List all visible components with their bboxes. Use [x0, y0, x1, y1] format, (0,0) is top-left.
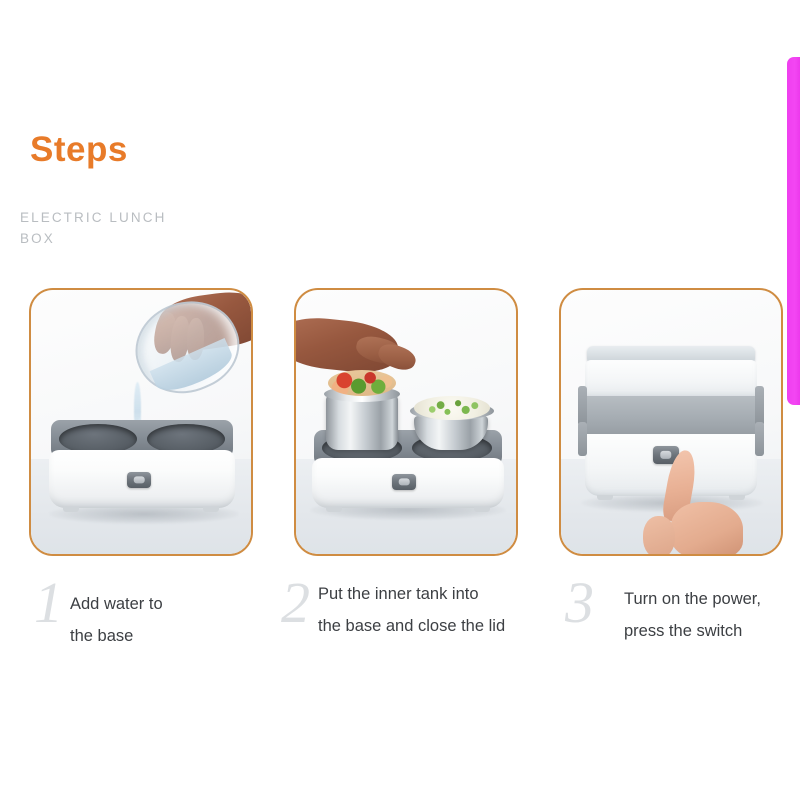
- base-foot: [597, 495, 613, 500]
- step-caption-line-1: Turn on the power,: [624, 583, 761, 615]
- step-photo-panel-2: [294, 288, 518, 556]
- page-subtitle: ELECTRIC LUNCH BOX: [20, 208, 195, 250]
- food-vegetables: [328, 370, 396, 396]
- step-number-2: 2: [281, 574, 310, 632]
- side-clip-left: [578, 386, 587, 426]
- hand: [671, 502, 743, 554]
- step-3-photo: [561, 290, 781, 554]
- step-caption-line-2: the base and close the lid: [318, 610, 505, 642]
- step-number-3: 3: [565, 574, 594, 632]
- step-2-photo: [296, 290, 516, 554]
- header-block: Steps: [30, 132, 128, 167]
- base-foot: [729, 495, 745, 500]
- lunch-box-upper-tier: [585, 360, 757, 398]
- power-switch: [392, 474, 416, 490]
- accent-strip: [787, 57, 800, 405]
- base-foot: [63, 507, 79, 512]
- thumb: [643, 516, 675, 554]
- step-caption-line-1: Add water to: [70, 588, 163, 620]
- base-foot: [326, 507, 342, 512]
- food-rice: [414, 396, 490, 420]
- step-1-photo: [31, 290, 251, 554]
- base-foot: [203, 507, 219, 512]
- inner-tank-vegetables: [326, 394, 398, 450]
- side-clip-right-lower: [755, 422, 764, 456]
- step-photo-panel-1: [29, 288, 253, 556]
- side-clip-left-lower: [578, 422, 587, 456]
- lunch-box-middle-band: [585, 396, 757, 436]
- step-caption-line-2: press the switch: [624, 615, 742, 647]
- power-switch: [127, 472, 151, 488]
- steps-infographic-page: Steps ELECTRIC LUNCH BOX: [0, 0, 800, 800]
- side-clip-right: [755, 386, 764, 426]
- step-number-1: 1: [34, 574, 63, 632]
- step-caption-line-2: the base: [70, 620, 133, 652]
- step-photo-panel-3: [559, 288, 783, 556]
- page-title: Steps: [30, 132, 128, 167]
- step-caption-line-1: Put the inner tank into: [318, 578, 479, 610]
- base-foot: [474, 507, 490, 512]
